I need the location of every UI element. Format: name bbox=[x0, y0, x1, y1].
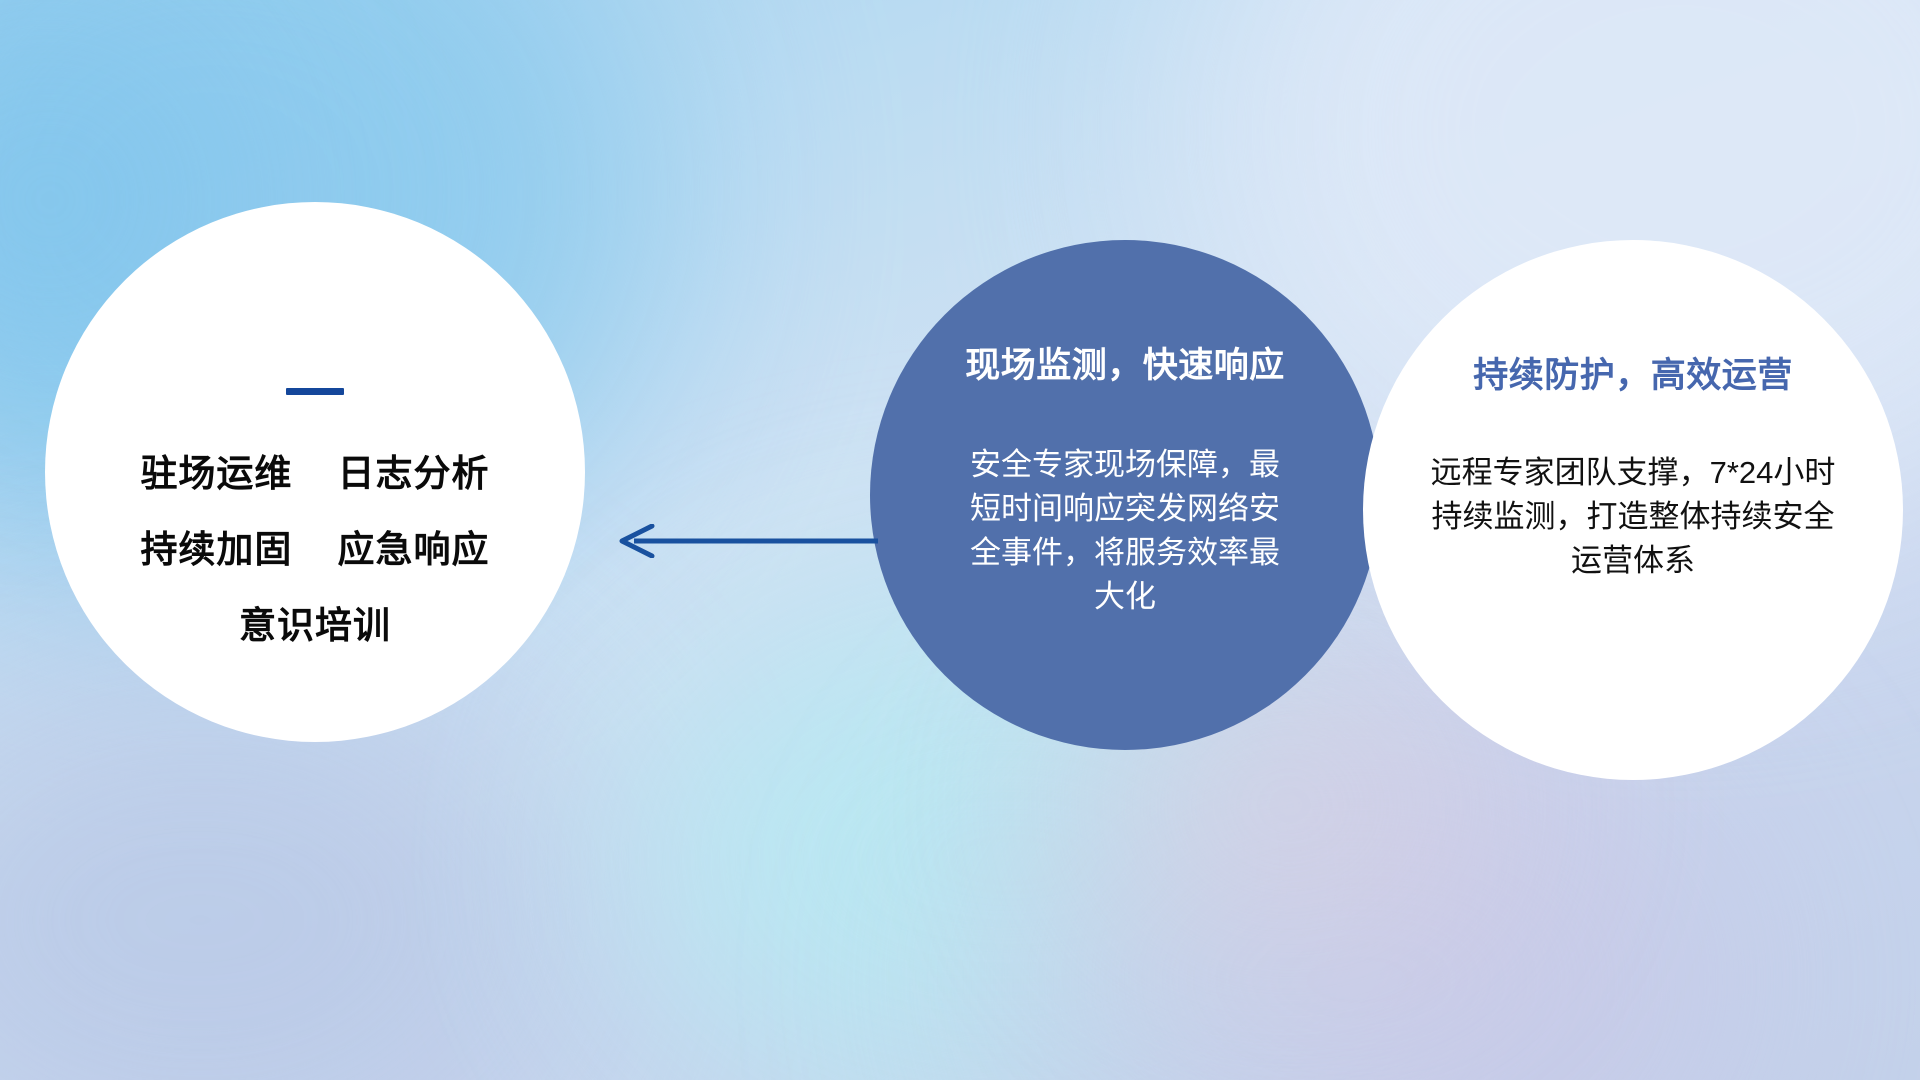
continuous-protection-circle[interactable]: 持续防护，高效运营 远程专家团队支撑，7*24小时持续监测，打造整体持续安全运营… bbox=[1363, 240, 1903, 780]
divider-rule bbox=[286, 388, 344, 395]
flow-arrow-icon bbox=[612, 524, 880, 558]
slide-canvas: 驻场运维 日志分析 持续加固 应急响应 意识培训 现场监测，快速响应 安全专家现… bbox=[0, 0, 1920, 1080]
onsite-monitoring-circle[interactable]: 现场监测，快速响应 安全专家现场保障，最短时间响应突发网络安全事件，将服务效率最… bbox=[870, 240, 1380, 750]
onsite-monitoring-title: 现场监测，快速响应 bbox=[965, 348, 1285, 383]
continuous-protection-body: 远程专家团队支撑，7*24小时持续监测，打造整体持续安全运营体系 bbox=[1423, 451, 1843, 583]
service-line-2: 持续加固 应急响应 bbox=[140, 531, 489, 568]
service-line-3: 意识培训 bbox=[239, 607, 391, 644]
onsite-monitoring-body: 安全专家现场保障，最短时间响应突发网络安全事件，将服务效率最大化 bbox=[960, 443, 1290, 619]
service-line-1: 驻场运维 日志分析 bbox=[140, 455, 489, 492]
continuous-protection-title: 持续防护，高效运营 bbox=[1473, 358, 1793, 393]
left-service-circle[interactable]: 驻场运维 日志分析 持续加固 应急响应 意识培训 bbox=[45, 202, 585, 742]
